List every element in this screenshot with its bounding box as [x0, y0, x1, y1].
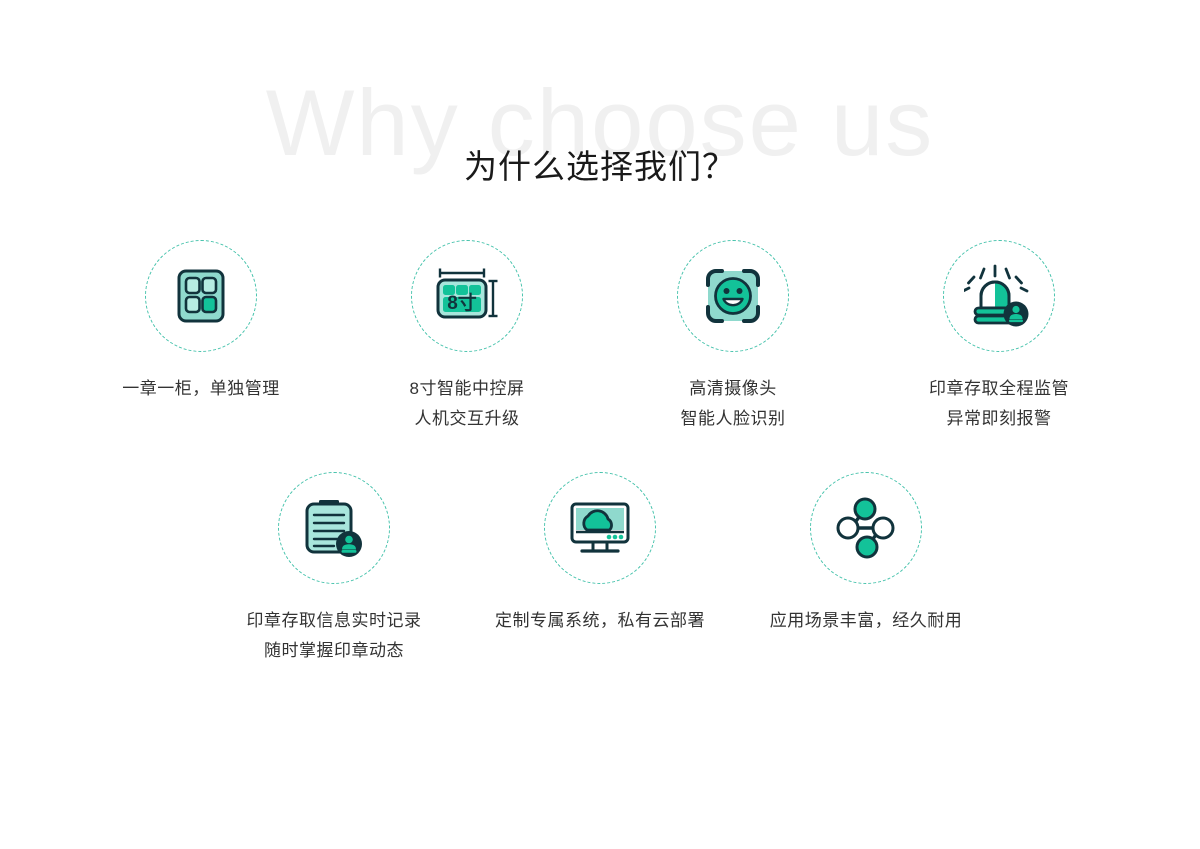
feature-item-alarm: 印章存取全程监管 异常即刻报警 [866, 240, 1132, 434]
network-nodes-icon [835, 497, 897, 559]
feature-row-2: 印章存取信息实时记录 随时掌握印章动态 [0, 472, 1200, 666]
feature-row-1: 一章一柜，单独管理 [0, 240, 1200, 434]
feature-grid: 一章一柜，单独管理 [0, 240, 1200, 666]
cloud-monitor-icon [567, 499, 633, 557]
feature-caption: 高清摄像头 智能人脸识别 [681, 374, 786, 434]
feature-caption: 印章存取全程监管 异常即刻报警 [929, 374, 1069, 434]
feature-item-screen: 8寸 8寸智能中控屏 人机交互升级 [334, 240, 600, 434]
screen-8inch-icon: 8寸 [431, 264, 503, 328]
icon-circle [810, 472, 922, 584]
face-recognition-icon [702, 265, 764, 327]
page-title: 为什么选择我们？ [0, 144, 1200, 190]
feature-item-cloud: 定制专属系统，私有云部署 [467, 472, 733, 636]
screen-icon-label: 8寸 [447, 291, 477, 314]
feature-caption: 定制专属系统，私有云部署 [495, 606, 705, 636]
feature-caption: 一章一柜，单独管理 [122, 374, 280, 404]
icon-circle [544, 472, 656, 584]
feature-caption: 印章存取信息实时记录 随时掌握印章动态 [247, 606, 422, 666]
feature-item-cabinet: 一章一柜，单独管理 [68, 240, 334, 404]
page-header: Why choose us 为什么选择我们？ [0, 0, 1200, 240]
alarm-siren-icon [964, 263, 1034, 329]
record-clipboard-icon [301, 496, 367, 560]
feature-item-network: 应用场景丰富，经久耐用 [733, 472, 999, 636]
icon-circle [943, 240, 1055, 352]
feature-caption: 应用场景丰富，经久耐用 [770, 606, 963, 636]
feature-item-record: 印章存取信息实时记录 随时掌握印章动态 [201, 472, 467, 666]
icon-circle [278, 472, 390, 584]
icon-circle [677, 240, 789, 352]
icon-circle: 8寸 [411, 240, 523, 352]
feature-item-face: 高清摄像头 智能人脸识别 [600, 240, 866, 434]
cabinet-grid-icon [169, 264, 233, 328]
icon-circle [145, 240, 257, 352]
feature-caption: 8寸智能中控屏 人机交互升级 [410, 374, 525, 434]
